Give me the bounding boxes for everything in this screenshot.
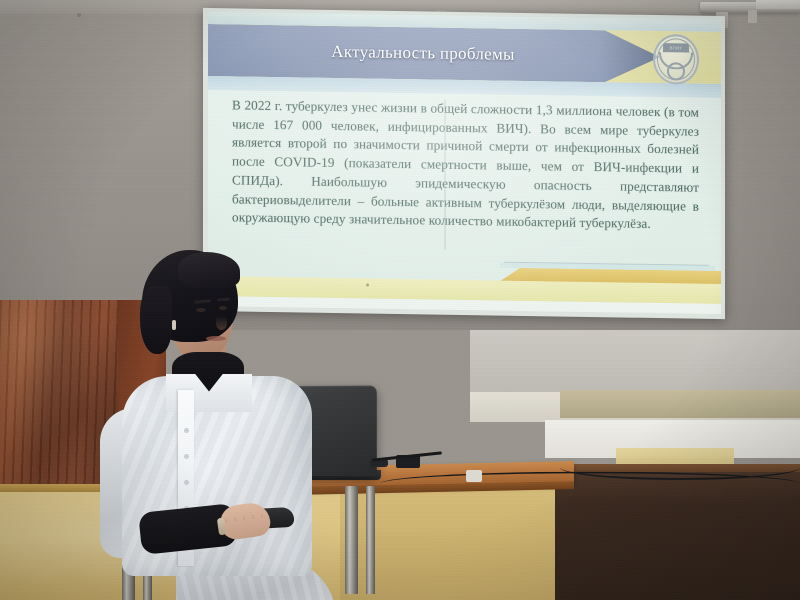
coat-button (184, 428, 189, 433)
table-leg (345, 486, 358, 594)
hair-fringe (178, 252, 240, 288)
hair-side (140, 286, 172, 354)
slide-title: Актуальность проблемы (208, 24, 638, 83)
power-cable-secondary (560, 452, 800, 478)
nose (216, 316, 227, 330)
white-plug (466, 470, 482, 482)
earring (172, 320, 176, 330)
wall-baseboard (560, 390, 800, 418)
coat-button (184, 480, 189, 485)
fluorescent-light-tube (756, 0, 800, 9)
eye (219, 306, 227, 310)
coat-button (184, 454, 189, 459)
ceiling-bracket (748, 10, 757, 23)
slide-body-text: В 2022 г. туберкулез унес жизни в общей … (232, 96, 699, 234)
eye (196, 308, 206, 312)
screen-seam (444, 100, 446, 250)
mouth (206, 336, 226, 341)
university-seal-logo: ВГМУ (653, 34, 699, 85)
seal-crest-text: ВГМУ (663, 43, 689, 52)
wall-mark (77, 13, 81, 17)
table-leg (366, 486, 375, 594)
seal-emblem (667, 62, 685, 80)
right-wall-upper (470, 330, 800, 392)
lecture-room-photo: Актуальность проблемы ВГМУ В 2022 г. туб… (0, 0, 800, 600)
